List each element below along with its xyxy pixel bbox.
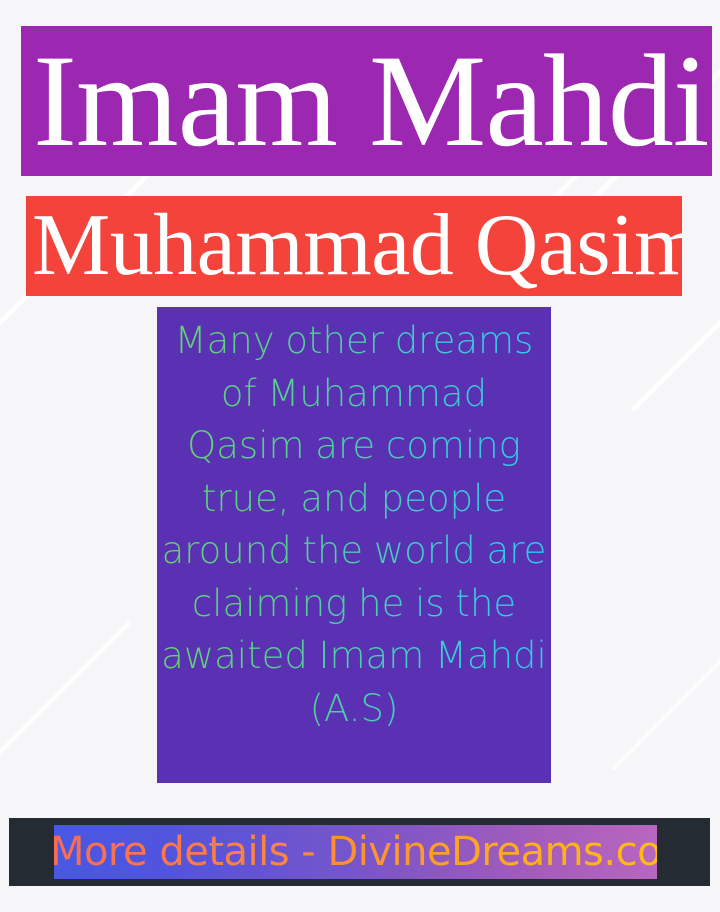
footer-cta-label[interactable]: More details - DivineDreams.co [54,832,657,872]
body-text-card: Many other dreams of Muhammad Qasim are … [157,307,551,783]
page-title: Imam Mahdi [33,35,709,167]
page-subtitle: Muhammad Qasim [32,202,682,290]
streak-line [611,613,720,771]
body-paragraph: Many other dreams of Muhammad Qasim are … [157,307,551,735]
poster-canvas: Imam Mahdi Muhammad Qasim Many other dre… [0,0,720,912]
footer-bar: More details - DivineDreams.co [9,818,710,886]
title-banner: Imam Mahdi [21,26,712,176]
subtitle-banner: Muhammad Qasim [26,196,682,296]
footer-cta-chip[interactable]: More details - DivineDreams.co [54,825,657,879]
streak-line [0,620,132,764]
